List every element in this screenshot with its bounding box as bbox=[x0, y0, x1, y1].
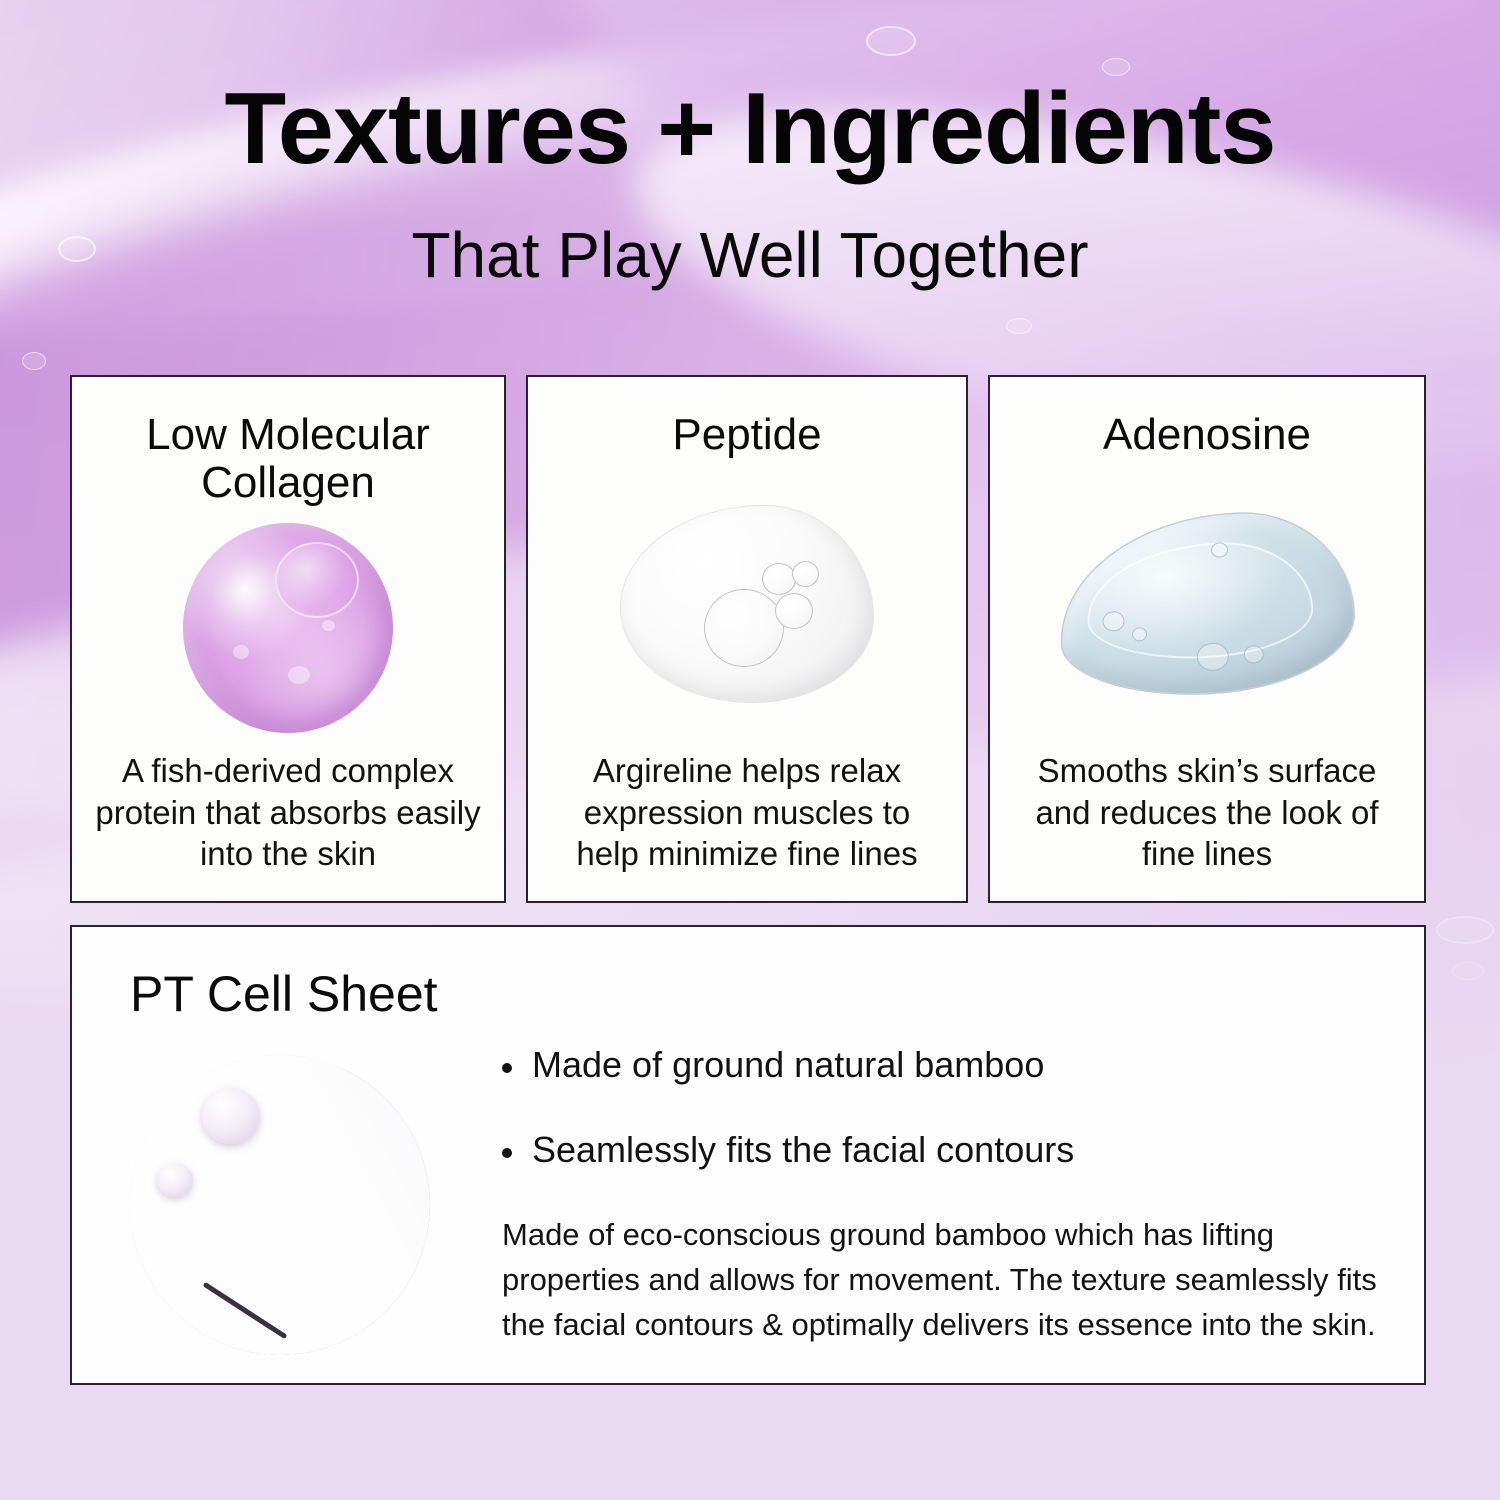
card-title: Adenosine bbox=[1103, 411, 1311, 459]
card-description: Argireline helps relax expression muscle… bbox=[528, 750, 966, 901]
bullet-text: Made of ground natural bamboo bbox=[532, 1043, 1044, 1086]
page-title: Textures + Ingredients bbox=[0, 76, 1500, 182]
collagen-bubble-icon bbox=[72, 506, 504, 750]
ingredient-card-peptide: Peptide Argireline helps relax expressio… bbox=[526, 375, 968, 903]
ingredient-card-collagen: Low Molecular Collagen A fish-derived co… bbox=[70, 375, 506, 903]
adenosine-droplet-icon bbox=[990, 459, 1424, 751]
card-title: Low Molecular Collagen bbox=[89, 411, 486, 506]
bullet-dot-icon bbox=[502, 1063, 512, 1073]
peptide-gel-icon bbox=[528, 459, 966, 751]
bullet-text: Seamlessly fits the facial contours bbox=[532, 1128, 1074, 1171]
ingredient-card-adenosine: Adenosine Smooths skin’s surface and red… bbox=[988, 375, 1426, 903]
list-item: Made of ground natural bamboo bbox=[502, 1043, 1382, 1086]
panel-paragraph: Made of eco-conscious ground bamboo whic… bbox=[502, 1213, 1382, 1348]
bullet-dot-icon bbox=[502, 1148, 512, 1158]
card-description: Smooths skin’s surface and reduces the l… bbox=[990, 750, 1424, 901]
panel-body: Made of ground natural bamboo Seamlessly… bbox=[502, 1043, 1382, 1348]
pt-cell-sheet-panel: PT Cell Sheet Made of ground natural bam… bbox=[70, 925, 1426, 1385]
infographic-page: Textures + Ingredients That Play Well To… bbox=[0, 0, 1500, 1500]
card-title: Peptide bbox=[672, 411, 821, 459]
panel-title: PT Cell Sheet bbox=[130, 969, 438, 1019]
card-description: A fish-derived complex protein that abso… bbox=[72, 750, 504, 901]
page-subtitle: That Play Well Together bbox=[0, 220, 1500, 290]
pt-cell-sheet-texture-icon bbox=[130, 1055, 430, 1355]
list-item: Seamlessly fits the facial contours bbox=[502, 1128, 1382, 1171]
